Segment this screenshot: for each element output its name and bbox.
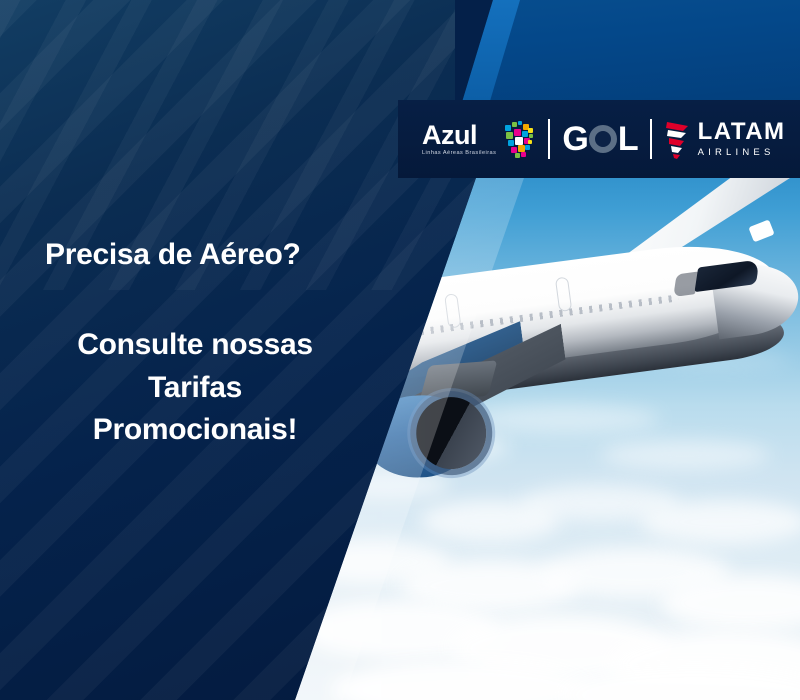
headline-question: Precisa de Aéreo? [45, 238, 345, 272]
promo-banner: Azul Linhas Aéreas Brasileiras [0, 0, 800, 700]
azul-logo[interactable]: Azul Linhas Aéreas Brasileiras [422, 119, 536, 159]
cockpit-side-window-icon [673, 271, 698, 297]
azul-tagline: Linhas Aéreas Brasileiras [422, 151, 496, 157]
headline-block: Precisa de Aéreo? Consulte nossas Tarifa… [45, 238, 345, 452]
latam-wordmark: LATAM [698, 120, 786, 144]
logo-separator [548, 119, 550, 159]
gol-logo[interactable]: G L [562, 120, 637, 159]
engine-intake-icon [415, 396, 487, 470]
latam-logo[interactable]: LATAM AIRLINES [664, 119, 786, 159]
latam-subtitle: AIRLINES [698, 148, 786, 158]
latam-ribbon-icon [664, 119, 690, 159]
headline-line-2: Tarifas [45, 367, 345, 410]
airline-logo-bar: Azul Linhas Aéreas Brasileiras [398, 100, 800, 178]
gol-circle-icon [589, 125, 617, 153]
azul-wordmark: Azul [422, 122, 477, 149]
logo-separator [650, 119, 652, 159]
brazil-map-mosaic-icon [502, 119, 536, 159]
headline-line-1: Consulte nossas [45, 324, 345, 367]
headline-offer: Consulte nossas Tarifas Promocionais! [45, 324, 345, 452]
gol-letter-g: G [562, 120, 587, 159]
gol-wordmark: G L [562, 120, 637, 159]
airplane-tail-tip [748, 219, 774, 242]
headline-line-3: Promocionais! [45, 409, 345, 452]
gol-letter-l: L [618, 120, 638, 159]
